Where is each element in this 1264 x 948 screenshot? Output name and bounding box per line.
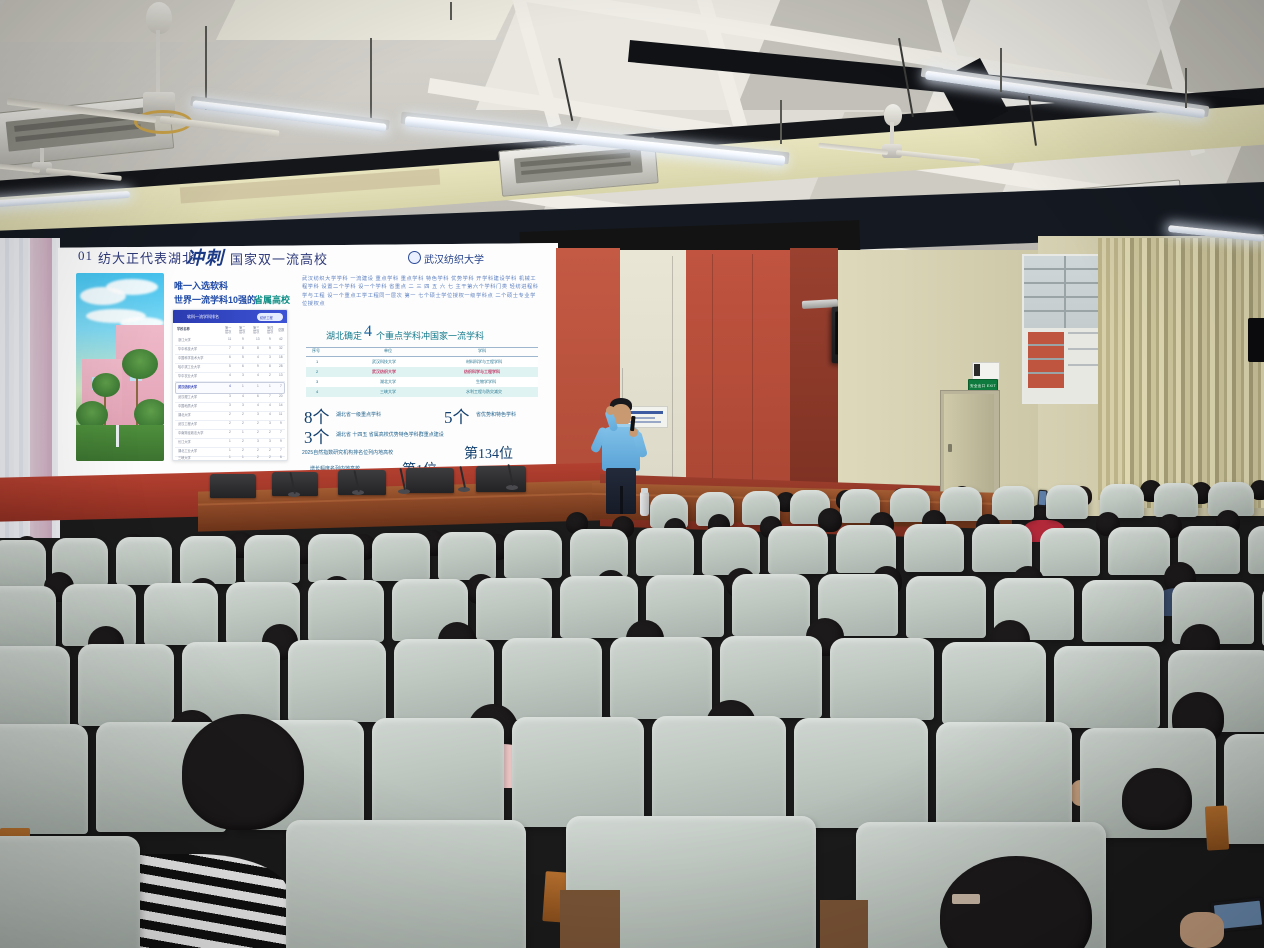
side-window bbox=[1022, 254, 1110, 404]
audience-hand-foreground bbox=[1180, 912, 1224, 948]
seat-armrest bbox=[1205, 805, 1229, 850]
university-logo-icon bbox=[408, 251, 421, 264]
key-disciplines-row-highlight bbox=[306, 387, 538, 397]
slide-title-main: 纺大正代表湖北 bbox=[98, 248, 196, 267]
slide-content: 01 纺大正代表湖北 冲刺 国家双一流高校 武汉纺织大学 bbox=[58, 243, 558, 479]
slide-left-heading-2: 世界一流学科10强的 bbox=[174, 293, 256, 306]
wall-notice-plate bbox=[972, 362, 1000, 380]
stat-label-5: 省优势和特色学科 bbox=[476, 411, 516, 418]
podium-chair bbox=[210, 474, 256, 498]
presenter-hand-at-ear bbox=[606, 406, 615, 415]
vertical-partition-curtain bbox=[1098, 238, 1124, 500]
campus-photo bbox=[76, 273, 164, 461]
audience-head-foreground bbox=[182, 714, 304, 830]
slide-section-title-number: 4 bbox=[364, 323, 372, 341]
seat-foreground bbox=[0, 836, 140, 948]
key-disciplines-row-highlight bbox=[306, 367, 538, 377]
stat-number-3: 3个 bbox=[304, 423, 330, 448]
projection-screen: 01 纺大正代表湖北 冲刺 国家双一流高校 武汉纺织大学 bbox=[58, 243, 558, 479]
footnote-1-value: 第134位 bbox=[464, 443, 513, 463]
podium-chair bbox=[476, 466, 526, 492]
slide-title-suffix: 国家双一流高校 bbox=[230, 249, 328, 268]
ranking-table-header-badge: 软科一流学科排名 bbox=[187, 314, 219, 320]
stage-wall-maroon bbox=[790, 248, 838, 498]
door-handle[interactable] bbox=[948, 444, 952, 452]
slide-left-heading-1: 唯一入选软科 bbox=[174, 279, 228, 292]
audience-glasses-temple bbox=[952, 894, 980, 904]
ranking-table-header-action: 纺织工程 bbox=[260, 315, 273, 320]
vertical-partition-curtain bbox=[1100, 238, 1264, 508]
wall-monitor bbox=[1248, 318, 1264, 362]
presenter bbox=[588, 398, 658, 520]
slide-left-heading-2-accent: 省属高校 bbox=[254, 293, 290, 306]
stat-number-5: 5个 bbox=[444, 403, 470, 428]
slide-right-paragraph: 武汉纺织大学学科 一流建设 重点学科 重点学科 特色学科 优势学科 开学科建设学… bbox=[302, 275, 540, 321]
podium-chair bbox=[406, 468, 454, 493]
footnote-1-text: 2025自然指数研究机构排名位列内地高校 bbox=[302, 449, 393, 456]
right-side-wall bbox=[838, 250, 1038, 510]
slide-title-prefix: 01 bbox=[78, 248, 93, 264]
stat-label-3: 湖北省 十四五 省属高校优势特色学科群重点建设 bbox=[336, 431, 444, 438]
university-logo-text: 武汉纺织大学 bbox=[424, 251, 484, 266]
slide-section-title-suffix: 个重点学科冲国家一流学科 bbox=[376, 329, 484, 342]
stat-label-8: 湖北省一级重点学科 bbox=[336, 411, 381, 418]
exit-sign-label: 安全出口 EXIT bbox=[970, 385, 996, 389]
stage-wall-red-right bbox=[686, 250, 790, 496]
audience-head bbox=[1122, 768, 1192, 830]
ranking-table: 软科一流学科排名 纺织工程 学校名称 第一 层次 第二 层次 第三 层次 第四 … bbox=[172, 309, 288, 461]
auditorium-photo: 01 纺大正代表湖北 冲刺 国家双一流高校 武汉纺织大学 bbox=[0, 0, 1264, 948]
key-disciplines-table: 序号 单位 学科 1 武汉科技大学 材料科学与工程学科 2 武汉纺织大学 纺织科… bbox=[306, 347, 538, 397]
slide-title-brush: 冲刺 bbox=[186, 244, 224, 270]
slide-section-title-prefix: 湖北确定 bbox=[326, 329, 362, 342]
seat-foreground bbox=[286, 820, 526, 948]
